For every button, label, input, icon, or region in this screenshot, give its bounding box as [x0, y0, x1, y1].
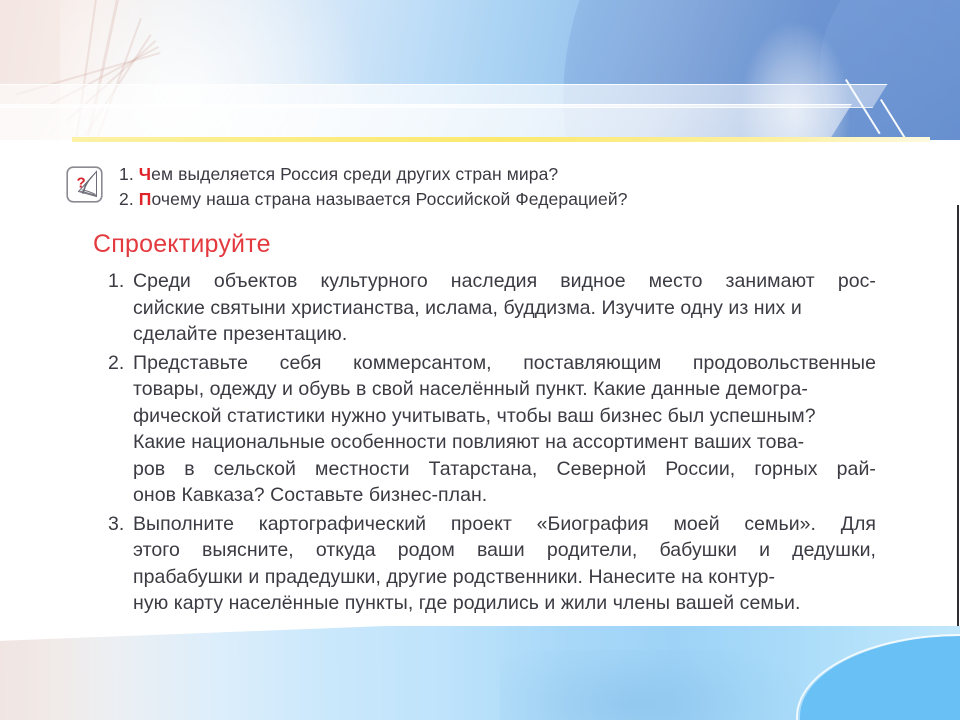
- task-number: 3.: [108, 511, 133, 538]
- question-item-2: 2. Почему наша страна называется Российс…: [119, 187, 628, 212]
- task-item: 2. Представьтесебякоммерсантом,поставляю…: [108, 350, 876, 509]
- task-body: Выполнитекартографическийпроект«Биографи…: [133, 511, 876, 617]
- task-word: культурного: [320, 268, 427, 295]
- task-word: Представьте: [133, 350, 248, 377]
- task-number: 2.: [108, 350, 133, 377]
- task-word: коммерсантом,: [353, 350, 492, 377]
- question-list: 1. Чем выделяется Россия среди других ст…: [119, 162, 628, 212]
- header-glass-ribbon: [0, 104, 852, 140]
- task-word: выясните,: [202, 537, 294, 564]
- task-word: Выполните: [133, 511, 234, 538]
- task-word: Для: [841, 511, 876, 538]
- task-word: поставляющим: [523, 350, 661, 377]
- task-word: рос-: [838, 268, 876, 295]
- task-word: местности: [315, 456, 410, 483]
- task-word: себя: [280, 350, 322, 377]
- question-number: 2.: [119, 189, 134, 209]
- task-word: сельской: [214, 456, 296, 483]
- task-word: ров: [133, 456, 165, 483]
- task-word: Татарстана,: [429, 456, 538, 483]
- task-word: продовольственные: [693, 350, 876, 377]
- content-panel: ? 1. Чем выделяется Ро: [0, 142, 958, 640]
- task-word: семьи».: [744, 511, 816, 538]
- task-word: объектов: [214, 268, 297, 295]
- task-word: и: [759, 537, 770, 564]
- task-item: 3. Выполнитекартографическийпроект«Биогр…: [108, 511, 876, 617]
- panel-right-rule: [957, 205, 959, 642]
- task-text-line: роввсельскойместностиТатарстана,Северной…: [133, 456, 876, 483]
- presentation-slide: ? 1. Чем выделяется Ро: [0, 0, 960, 720]
- task-word: место: [649, 268, 703, 295]
- task-word: дедушки,: [792, 537, 876, 564]
- task-text-line: этоговыясните,откудародомваширодители,ба…: [133, 537, 876, 564]
- task-text-line: товары, одежду и обувь в свой населённый…: [133, 376, 876, 403]
- task-word: наследия: [451, 268, 537, 295]
- question-highlight-letter: П: [139, 189, 152, 209]
- task-word: в: [184, 456, 194, 483]
- task-text-line: фической статистики нужно учитывать, что…: [133, 403, 876, 430]
- question-globe-icon: ?: [66, 166, 103, 203]
- task-word: Северной: [556, 456, 646, 483]
- task-word: откуда: [316, 537, 376, 564]
- task-body: Средиобъектовкультурногонаследиявидноеме…: [133, 268, 876, 348]
- slide-header-banner: [0, 0, 960, 140]
- task-list: 1. Средиобъектовкультурногонаследиявидно…: [108, 268, 876, 619]
- task-word: России,: [665, 456, 735, 483]
- task-word: бабушки: [660, 537, 737, 564]
- task-text-line: онов Кавказа? Составьте бизнес-план.: [133, 482, 876, 509]
- task-word: видное: [560, 268, 625, 295]
- task-word: проект: [451, 511, 512, 538]
- task-word: Среди: [133, 268, 191, 295]
- task-word: рай-: [837, 456, 876, 483]
- task-item: 1. Средиобъектовкультурногонаследиявидно…: [108, 268, 876, 348]
- question-item-1: 1. Чем выделяется Россия среди других ст…: [119, 162, 628, 187]
- task-text-line: Какие национальные особенности повлияют …: [133, 429, 876, 456]
- task-number: 1.: [108, 268, 133, 295]
- slide-footer-band: [0, 626, 960, 720]
- task-word: этого: [133, 537, 180, 564]
- task-text-line: прабабушки и прадедушки, другие родствен…: [133, 564, 876, 591]
- section-heading: Спроектируйте: [93, 230, 271, 259]
- question-number: 1.: [119, 164, 134, 184]
- task-text-line: сделайте презентацию.: [133, 321, 876, 348]
- footer-cloud-highlight: [500, 650, 800, 720]
- task-word: родом: [398, 537, 455, 564]
- question-highlight-letter: Ч: [139, 164, 151, 184]
- questions-block: ? 1. Чем выделяется Ро: [66, 162, 628, 212]
- task-word: родители,: [547, 537, 638, 564]
- task-text-line: Представьтесебякоммерсантом,поставляющим…: [133, 350, 876, 377]
- task-word: «Биография: [537, 511, 649, 538]
- task-word: занимают: [726, 268, 815, 295]
- task-word: картографический: [259, 511, 426, 538]
- task-text-line: ную карту населённые пункты, где родилис…: [133, 590, 876, 617]
- question-text: очему наша страна называется Российской …: [151, 189, 627, 209]
- question-text: ем выделяется Россия среди других стран …: [151, 164, 558, 184]
- task-word: ваши: [477, 537, 525, 564]
- task-text-line: сийские святыни христианства, ислама, бу…: [133, 295, 876, 322]
- task-text-line: Выполнитекартографическийпроект«Биографи…: [133, 511, 876, 538]
- task-word: моей: [673, 511, 719, 538]
- task-body: Представьтесебякоммерсантом,поставляющим…: [133, 350, 876, 509]
- task-word: горных: [754, 456, 817, 483]
- task-text-line: Средиобъектовкультурногонаследиявидноеме…: [133, 268, 876, 295]
